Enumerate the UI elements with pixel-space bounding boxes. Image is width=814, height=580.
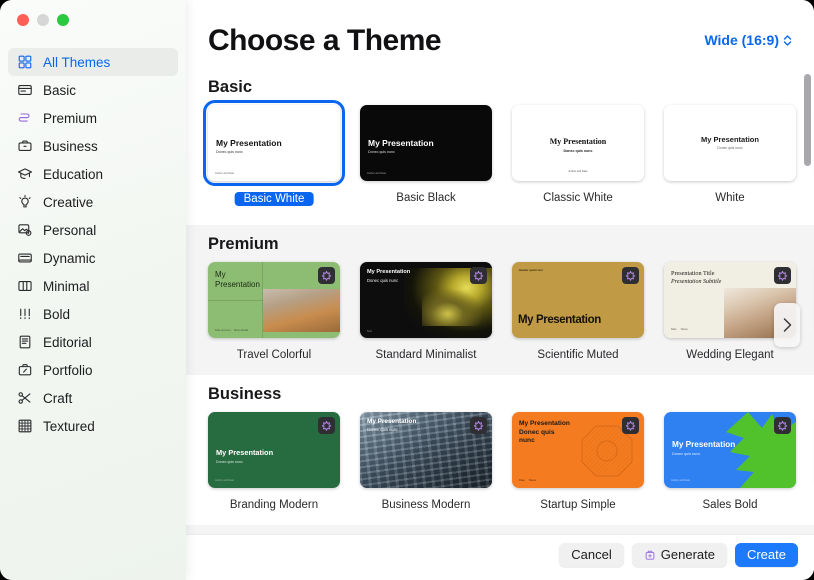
sidebar-item-bold[interactable]: Bold <box>8 300 178 328</box>
theme-card-label: Basic Black <box>360 192 492 204</box>
theme-section-basic: BasicMy PresentationDonec quis nuncAutho… <box>186 68 814 225</box>
theme-row: My PresentationDate and text More detail… <box>208 262 814 375</box>
sidebar-item-premium[interactable]: Premium <box>8 104 178 132</box>
section-title: Basic <box>208 68 814 105</box>
premium-badge-icon <box>470 417 487 434</box>
sidebar-item-all-themes[interactable]: All Themes <box>8 48 178 76</box>
theme-card-label: Branding Modern <box>208 499 340 511</box>
theme-card-label: Standard Minimalist <box>360 349 492 361</box>
columns-icon <box>16 278 33 295</box>
theme-section-education: Education <box>186 525 814 534</box>
theme-card[interactable]: My PresentationDonec quis nuncAuthor and… <box>208 105 340 211</box>
sidebar-item-label: Education <box>43 167 103 182</box>
sidebar-item-label: Dynamic <box>43 251 96 266</box>
theme-card-label: Business Modern <box>360 499 492 511</box>
sidebar-item-label: Portfolio <box>43 363 93 378</box>
sidebar-item-label: Bold <box>43 307 70 322</box>
layers-icon <box>16 110 33 127</box>
scissors-icon <box>16 390 33 407</box>
theme-thumbnail[interactable]: Header quote textMy Presentation <box>512 262 644 338</box>
theme-card[interactable]: My PresentationDonec quis nuncAuthor and… <box>360 105 492 211</box>
sidebar-item-label: Premium <box>43 111 97 126</box>
theme-card-label: Scientific Muted <box>512 349 644 361</box>
sidebar-item-creative[interactable]: Creative <box>8 188 178 216</box>
sidebar-item-basic[interactable]: Basic <box>8 76 178 104</box>
premium-badge-icon <box>318 267 335 284</box>
document-icon <box>16 334 33 351</box>
sidebar-item-portfolio[interactable]: Portfolio <box>8 356 178 384</box>
theme-thumbnail[interactable]: My PresentationDonec quis nuncAuthor and… <box>664 412 796 488</box>
section-title: Business <box>208 375 814 412</box>
theme-thumbnail[interactable]: My PresentationDonec quis nuncDate Name <box>512 412 644 488</box>
generate-button[interactable]: Generate <box>632 543 727 567</box>
theme-thumbnail[interactable]: My PresentationDonec quis nuncAuthor and… <box>512 105 644 181</box>
theme-thumbnail[interactable]: My PresentationDonec quis nunc <box>360 412 492 488</box>
briefcase-icon <box>16 138 33 155</box>
lightbulb-icon <box>16 194 33 211</box>
theme-scroll-area[interactable]: BasicMy PresentationDonec quis nuncAutho… <box>186 68 814 534</box>
graduation-icon <box>16 166 33 183</box>
theme-thumbnail[interactable]: My PresentationDate and text More detail… <box>208 262 340 338</box>
premium-badge-icon <box>318 417 335 434</box>
chevron-updown-icon <box>783 34 792 47</box>
theme-card-label: Travel Colorful <box>208 349 340 361</box>
theme-row: My PresentationDonec quis nuncAuthor and… <box>208 105 814 225</box>
photo-icon <box>16 222 33 239</box>
case-icon <box>16 362 33 379</box>
premium-badge-icon <box>774 267 791 284</box>
sidebar-item-label: Business <box>43 139 98 154</box>
ai-generate-icon <box>644 549 656 561</box>
dialog-footer: Cancel Generate Create <box>186 534 814 580</box>
sidebar-item-textured[interactable]: Textured <box>8 412 178 440</box>
theme-card[interactable]: My PresentationDonec quis nuncAuthor and… <box>208 412 340 511</box>
theme-chooser-window: All ThemesBasicPremiumBusinessEducationC… <box>0 0 814 580</box>
sidebar-nav: All ThemesBasicPremiumBusinessEducationC… <box>0 42 186 440</box>
theme-card[interactable]: My PresentationDonec quis nuncDate NameS… <box>512 412 644 511</box>
sidebar-item-label: Textured <box>43 419 95 434</box>
card-icon <box>16 82 33 99</box>
cancel-button[interactable]: Cancel <box>559 543 623 567</box>
sidebar-item-label: Personal <box>43 223 96 238</box>
aspect-ratio-label: Wide (16:9) <box>704 32 779 48</box>
theme-section-premium: PremiumMy PresentationDate and text More… <box>186 225 814 375</box>
premium-badge-icon <box>622 267 639 284</box>
premium-badge-icon <box>622 417 639 434</box>
window-traffic-lights <box>0 0 186 42</box>
create-button[interactable]: Create <box>735 543 798 567</box>
page-title: Choose a Theme <box>208 24 441 58</box>
sidebar-item-dynamic[interactable]: Dynamic <box>8 244 178 272</box>
sidebar-item-label: Basic <box>43 83 76 98</box>
sidebar-item-education[interactable]: Education <box>8 160 178 188</box>
theme-thumbnail[interactable]: My PresentationDonec quis nuncAuthor and… <box>208 105 340 181</box>
theme-card-label: Wedding Elegant <box>664 349 796 361</box>
theme-card[interactable]: My PresentationDonec quis nuncBusiness M… <box>360 412 492 511</box>
theme-card[interactable]: My PresentationDate and text More detail… <box>208 262 340 361</box>
theme-thumbnail[interactable]: My PresentationDonec quis nuncAuthor and… <box>208 412 340 488</box>
theme-thumbnail[interactable]: My PresentationDonec quis nuncAuthor and… <box>360 105 492 181</box>
slider-icon <box>16 250 33 267</box>
theme-card[interactable]: My PresentationDonec quis nuncWhite <box>664 105 796 211</box>
theme-card[interactable]: My PresentationDonec quis nuncAuthor and… <box>664 412 796 511</box>
sidebar-item-label: Minimal <box>43 279 90 294</box>
aspect-ratio-select[interactable]: Wide (16:9) <box>704 32 792 48</box>
premium-badge-icon <box>774 417 791 434</box>
sidebar: All ThemesBasicPremiumBusinessEducationC… <box>0 0 186 580</box>
sidebar-item-label: All Themes <box>43 55 110 70</box>
checker-icon <box>16 418 33 435</box>
theme-card[interactable]: Header quote textMy PresentationScientif… <box>512 262 644 361</box>
theme-card[interactable]: My PresentationDonec quis nuncTextStanda… <box>360 262 492 361</box>
theme-card-label: Startup Simple <box>512 499 644 511</box>
sidebar-item-business[interactable]: Business <box>8 132 178 160</box>
main-header: Choose a Theme Wide (16:9) <box>186 0 814 68</box>
bars-icon <box>16 306 33 323</box>
theme-card-label: Sales Bold <box>664 499 796 511</box>
section-title: Education <box>208 525 814 534</box>
theme-row: My PresentationDonec quis nuncAuthor and… <box>208 412 814 525</box>
vertical-scrollbar[interactable] <box>804 74 811 166</box>
theme-card-label: Basic White <box>235 192 314 206</box>
theme-card-label: Classic White <box>512 192 644 204</box>
premium-badge-icon <box>470 267 487 284</box>
zoom-button[interactable] <box>57 14 69 26</box>
theme-thumbnail[interactable]: My PresentationDonec quis nuncText <box>360 262 492 338</box>
sidebar-item-minimal[interactable]: Minimal <box>8 272 178 300</box>
close-button[interactable] <box>17 14 29 26</box>
theme-sections: BasicMy PresentationDonec quis nuncAutho… <box>186 68 814 534</box>
generate-button-label: Generate <box>661 547 715 562</box>
next-page-button[interactable] <box>774 303 800 347</box>
section-title: Premium <box>208 225 814 262</box>
sidebar-item-personal[interactable]: Personal <box>8 216 178 244</box>
theme-section-business: BusinessMy PresentationDonec quis nuncAu… <box>186 375 814 525</box>
theme-thumbnail[interactable]: My PresentationDonec quis nunc <box>664 105 796 181</box>
sidebar-item-craft[interactable]: Craft <box>8 384 178 412</box>
sidebar-item-label: Craft <box>43 391 72 406</box>
theme-card[interactable]: My PresentationDonec quis nuncAuthor and… <box>512 105 644 211</box>
main-panel: Choose a Theme Wide (16:9) BasicMy Prese… <box>186 0 814 580</box>
theme-card-label: White <box>664 192 796 204</box>
minimize-button[interactable] <box>37 14 49 26</box>
sidebar-item-editorial[interactable]: Editorial <box>8 328 178 356</box>
sidebar-item-label: Editorial <box>43 335 92 350</box>
grid-icon <box>16 54 33 71</box>
sidebar-item-label: Creative <box>43 195 93 210</box>
